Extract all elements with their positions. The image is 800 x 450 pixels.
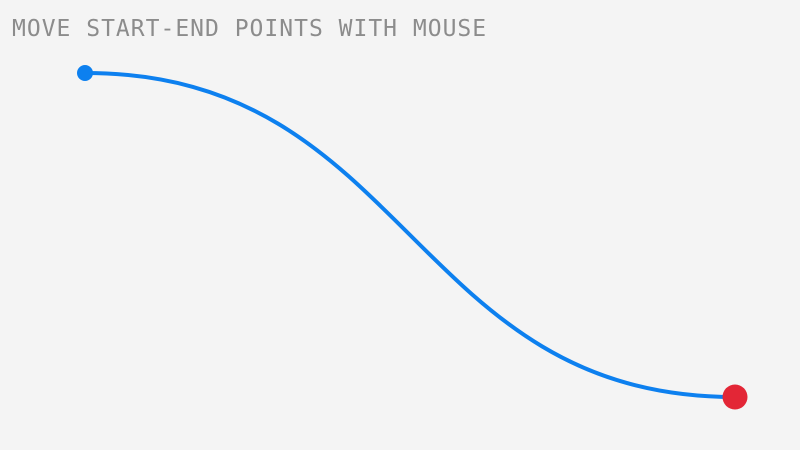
start-point-handle[interactable] (77, 65, 93, 81)
bezier-curve-canvas[interactable] (0, 0, 800, 450)
curve-editor-canvas[interactable]: MOVE START-END POINTS WITH MOUSE (0, 0, 800, 450)
end-point-handle[interactable] (723, 385, 748, 410)
bezier-curve-path (85, 73, 735, 397)
